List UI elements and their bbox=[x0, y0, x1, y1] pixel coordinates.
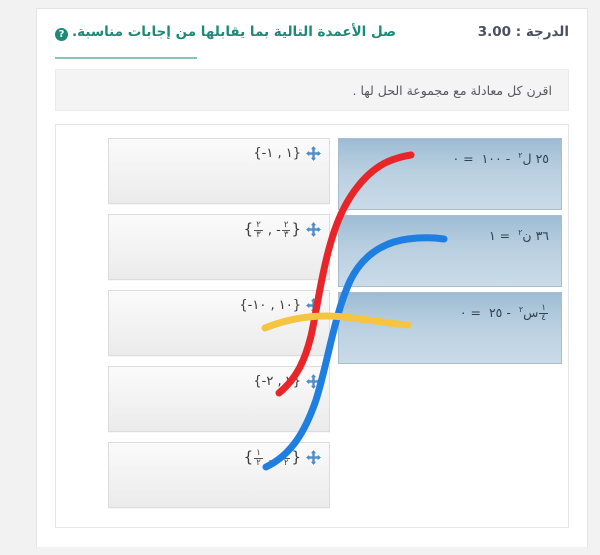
equations-column: ٢٥ ل٢ - ١٠٠ = ٠ ٣٦ ن٢ = ١ ١٤س bbox=[338, 133, 562, 527]
move-arrows-icon[interactable] bbox=[306, 450, 321, 465]
equation-box[interactable]: ١٤س٢ - ٢٥ = ٠ bbox=[338, 292, 562, 364]
solutions-column: {١ , ١-} {٢٣- , ٢٣} bbox=[108, 133, 330, 527]
prompt-wrapper: اقرن كل معادلة مع مجموعة الحل لها . bbox=[37, 55, 587, 111]
move-arrows-icon[interactable] bbox=[306, 374, 321, 389]
fraction: ١٢ bbox=[254, 449, 263, 468]
solution-item[interactable]: {٢ , ٢-} bbox=[108, 366, 330, 432]
solution-text: {٢ , ٢-} bbox=[253, 373, 301, 390]
screenshot-root: صل الأعمدة التالية بما يقابلها من إجابات… bbox=[0, 0, 600, 555]
solution-item[interactable]: {١ , ١-} bbox=[108, 138, 330, 204]
header-underline bbox=[55, 57, 197, 59]
matching-columns: ٢٥ ل٢ - ١٠٠ = ٠ ٣٦ ن٢ = ١ ١٤س bbox=[62, 133, 562, 527]
fraction: ١٢ bbox=[282, 449, 291, 468]
equation-box[interactable]: ٣٦ ن٢ = ١ bbox=[338, 215, 562, 287]
solution-item[interactable]: {٢٣- , ٢٣} bbox=[108, 214, 330, 280]
question-title: صل الأعمدة التالية بما يقابلها من إجابات… bbox=[55, 24, 396, 41]
equation-box[interactable]: ٢٥ ل٢ - ١٠٠ = ٠ bbox=[338, 138, 562, 210]
question-title-text: صل الأعمدة التالية بما يقابلها من إجابات… bbox=[72, 24, 396, 40]
solution-text: {١٢- , ١٢} bbox=[244, 449, 301, 468]
move-arrows-icon[interactable] bbox=[306, 298, 321, 313]
fraction: ٢٣ bbox=[282, 221, 291, 240]
prompt-text: اقرن كل معادلة مع مجموعة الحل لها . bbox=[353, 83, 553, 98]
equation-text: ٢٥ ل٢ - ١٠٠ = ٠ bbox=[452, 147, 549, 167]
solution-item[interactable]: {١٠ , ١٠-} bbox=[108, 290, 330, 356]
grade-label: الدرجة : 3.00 bbox=[478, 24, 569, 40]
fraction: ٢٣ bbox=[254, 221, 263, 240]
move-arrows-icon[interactable] bbox=[306, 146, 321, 161]
solution-text: {٢٣- , ٢٣} bbox=[244, 221, 301, 240]
question-card: صل الأعمدة التالية بما يقابلها من إجابات… bbox=[36, 8, 588, 547]
question-mark-circle-icon[interactable]: ? bbox=[55, 28, 68, 41]
solution-text: {١ , ١-} bbox=[253, 145, 301, 162]
prompt-bar: اقرن كل معادلة مع مجموعة الحل لها . bbox=[55, 69, 569, 111]
move-arrows-icon[interactable] bbox=[306, 222, 321, 237]
matching-area: ٢٥ ل٢ - ١٠٠ = ٠ ٣٦ ن٢ = ١ ١٤س bbox=[55, 124, 569, 528]
solution-text: {١٠ , ١٠-} bbox=[239, 297, 301, 314]
fraction: ١٤ bbox=[539, 304, 548, 323]
equation-text: ٣٦ ن٢ = ١ bbox=[489, 224, 549, 244]
equation-text: ١٤س٢ - ٢٥ = ٠ bbox=[460, 301, 549, 323]
question-header: صل الأعمدة التالية بما يقابلها من إجابات… bbox=[37, 9, 587, 55]
solution-item[interactable]: {١٢- , ١٢} bbox=[108, 442, 330, 508]
